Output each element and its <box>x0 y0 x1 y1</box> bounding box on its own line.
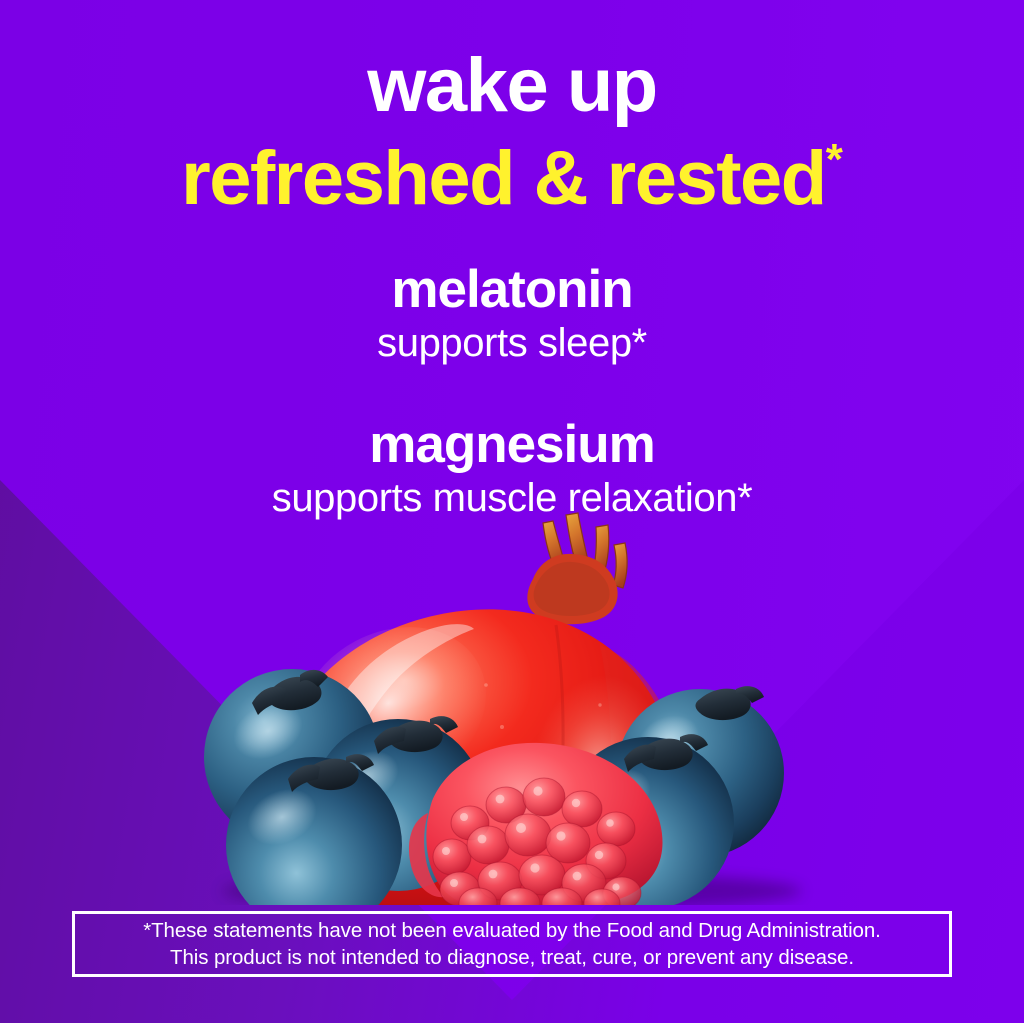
marketing-copy-block: wake up refreshed & rested* melatonin su… <box>0 0 1024 523</box>
headline-secondary-text: refreshed & rested <box>181 136 826 221</box>
benefit-melatonin: melatonin supports sleep* <box>0 217 1024 368</box>
headline-primary: wake up <box>0 0 1024 124</box>
benefit-melatonin-name: melatonin <box>0 261 1024 318</box>
benefit-magnesium-description: supports muscle relaxation* <box>0 473 1024 523</box>
benefit-magnesium-name: magnesium <box>0 416 1024 473</box>
advertisement-canvas: wake up refreshed & rested* melatonin su… <box>0 0 1024 1023</box>
headline-secondary: refreshed & rested* <box>0 124 1024 217</box>
fda-disclaimer-text: *These statements have not been evaluate… <box>143 917 881 971</box>
fda-disclaimer-box: *These statements have not been evaluate… <box>72 911 952 977</box>
benefit-magnesium: magnesium supports muscle relaxation* <box>0 368 1024 523</box>
fda-disclaimer-line-1: *These statements have not been evaluate… <box>143 917 881 944</box>
fda-disclaimer-line-2: This product is not intended to diagnose… <box>143 944 881 971</box>
headline-footnote-marker: * <box>826 135 843 184</box>
benefit-melatonin-description: supports sleep* <box>0 318 1024 368</box>
berry-fruit-cluster-image <box>0 505 1024 905</box>
